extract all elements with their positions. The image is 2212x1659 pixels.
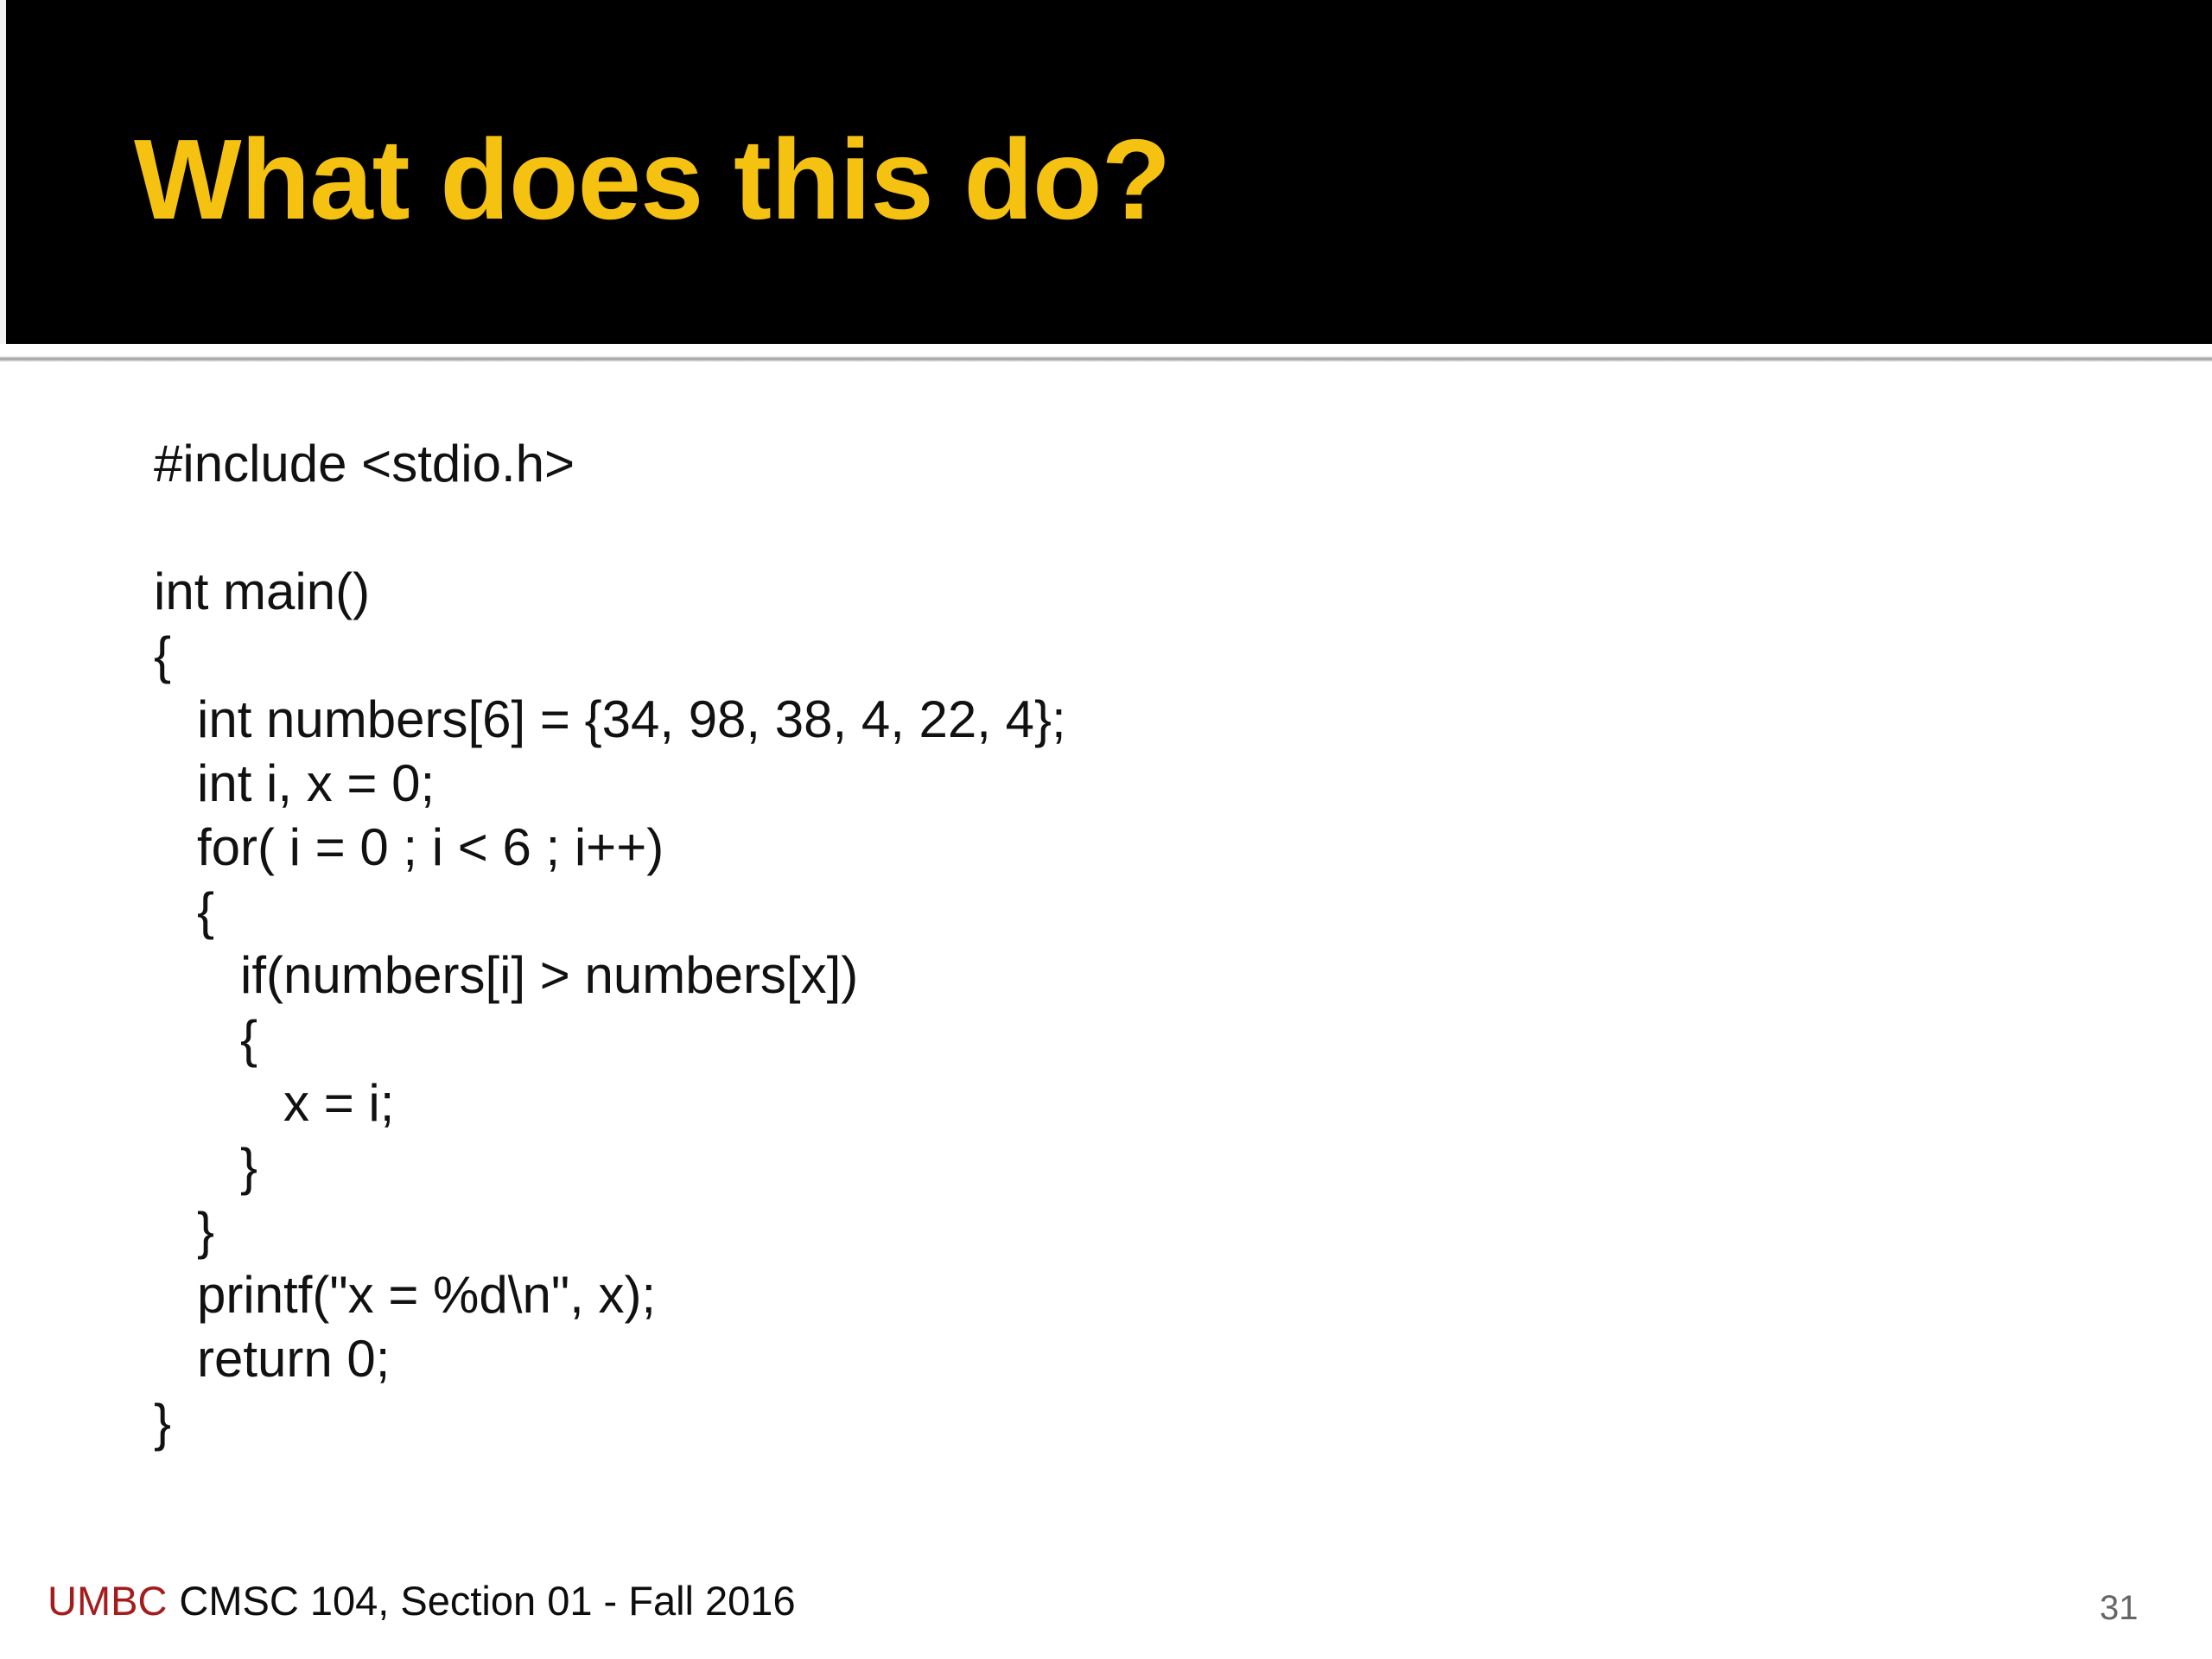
footer-course-label: CMSC 104, Section 01 - Fall 2016 xyxy=(179,1571,795,1631)
code-line: } xyxy=(154,1199,2055,1263)
code-line xyxy=(154,496,2055,560)
title-band: What does this do? xyxy=(0,0,2212,344)
code-line: return 0; xyxy=(154,1327,2055,1391)
title-divider xyxy=(0,356,2212,362)
code-line: int numbers[6] = {34, 98, 38, 4, 22, 4}; xyxy=(154,688,2055,752)
code-line: int main() xyxy=(154,560,2055,624)
page-title: What does this do? xyxy=(134,102,2121,266)
title-band-left-edge xyxy=(0,0,6,344)
code-line: { xyxy=(154,1007,2055,1071)
code-line: } xyxy=(154,1135,2055,1199)
code-line: for( i = 0 ; i < 6 ; i++) xyxy=(154,816,2055,880)
code-line: { xyxy=(154,880,2055,944)
code-line: { xyxy=(154,624,2055,688)
slide-footer: UMBC CMSC 104, Section 01 - Fall 2016 xyxy=(48,1571,796,1631)
page-number: 31 xyxy=(2100,1586,2177,1630)
slide-canvas: What does this do? #include <stdio.h> in… xyxy=(0,0,2212,1659)
footer-organization: UMBC xyxy=(48,1571,167,1631)
code-line: #include <stdio.h> xyxy=(154,432,2055,496)
code-line: int i, x = 0; xyxy=(154,752,2055,816)
code-line: x = i; xyxy=(154,1071,2055,1135)
code-line: printf("x = %d\n", x); xyxy=(154,1263,2055,1327)
code-listing: #include <stdio.h> int main(){ int numbe… xyxy=(154,432,2055,1455)
code-line: } xyxy=(154,1391,2055,1455)
code-line: if(numbers[i] > numbers[x]) xyxy=(154,944,2055,1007)
